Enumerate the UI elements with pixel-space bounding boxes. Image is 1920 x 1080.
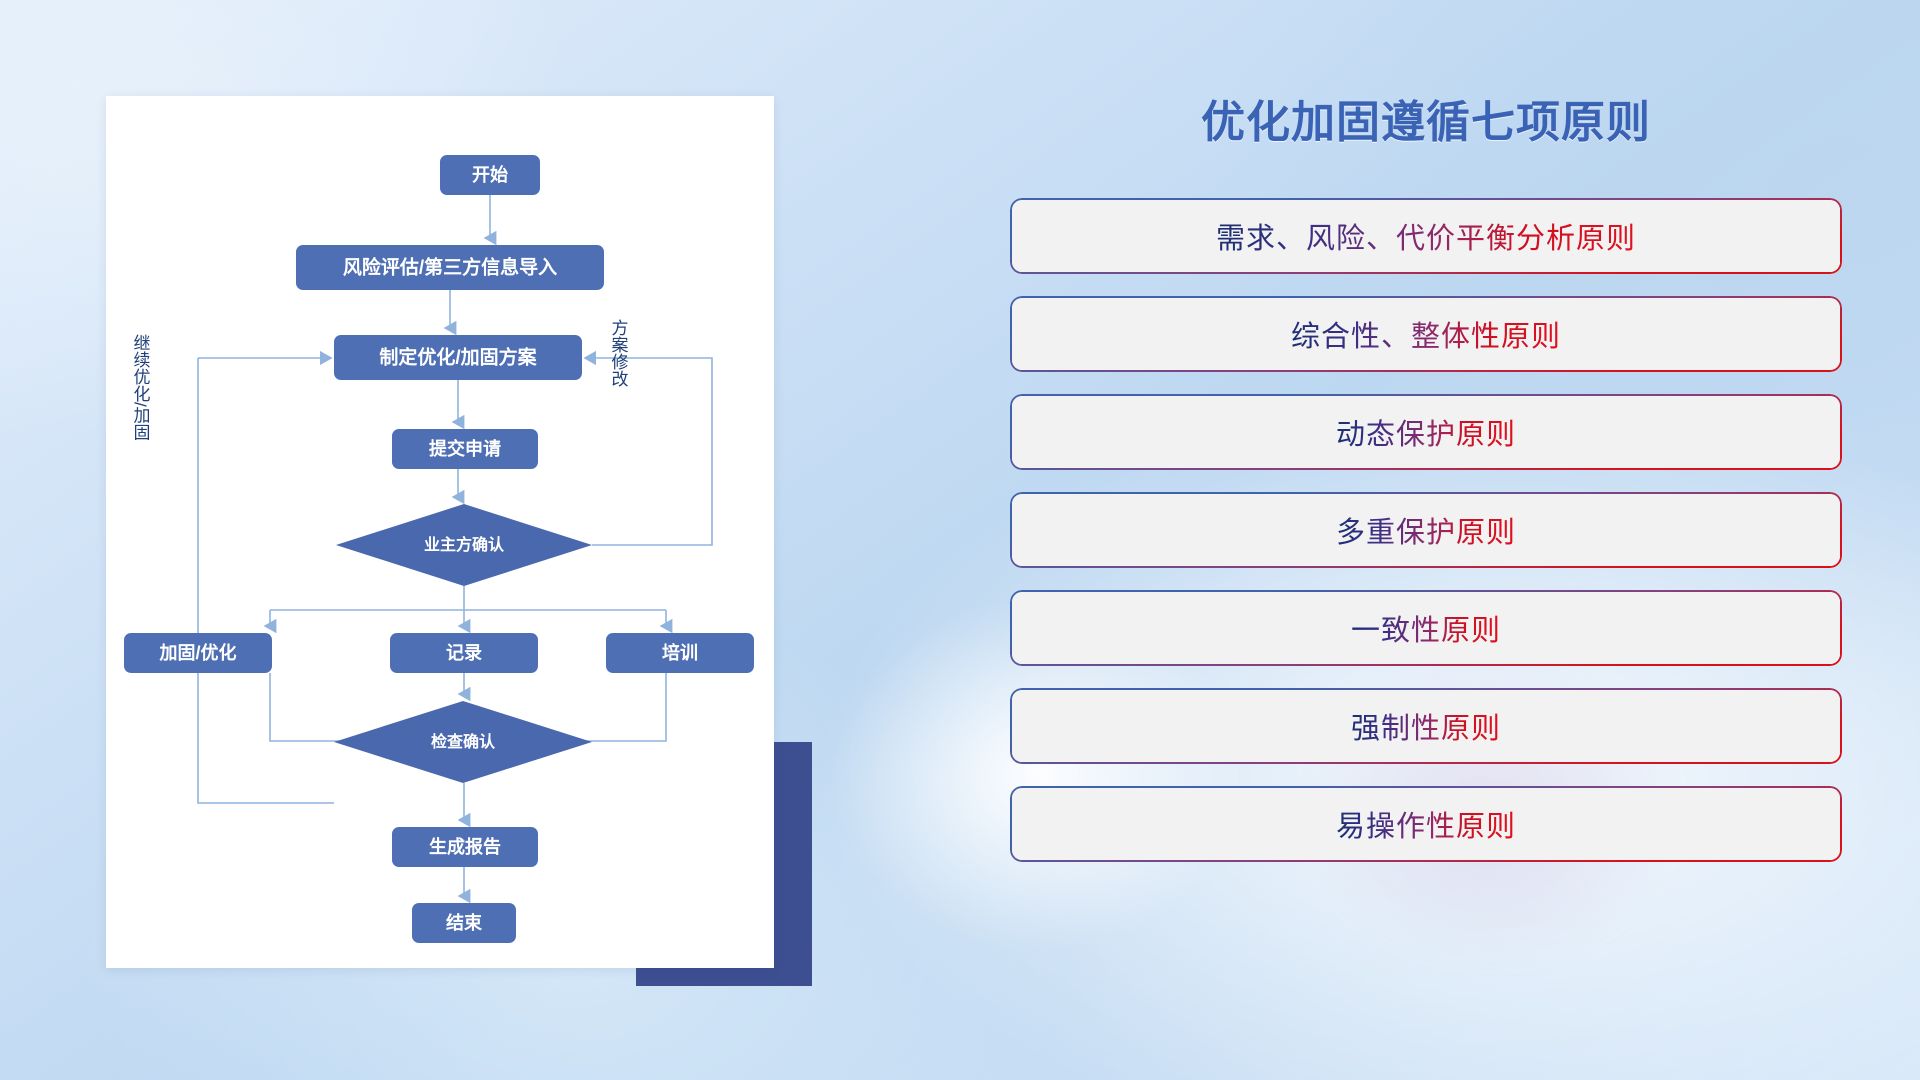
principle-card[interactable]: 一致性原则 bbox=[1010, 590, 1842, 666]
flow-node-ownerconfirm: 业主方确认 bbox=[336, 504, 592, 586]
flow-node-label: 业主方确认 bbox=[424, 535, 505, 554]
flow-node-end: 结束 bbox=[412, 903, 516, 943]
flow-node-label: 制定优化/加固方案 bbox=[379, 346, 537, 369]
flow-node-label: 生成报告 bbox=[429, 836, 501, 857]
principle-card-body: 一致性原则 bbox=[1012, 592, 1840, 664]
principle-label: 易操作性原则 bbox=[1336, 803, 1516, 845]
flow-side-label-continue-opt: 继续优化/加固 bbox=[131, 334, 151, 441]
flow-node-reinforce: 加固/优化 bbox=[124, 633, 272, 673]
flow-node-report: 生成报告 bbox=[392, 827, 538, 867]
flowchart-diagram: 开始风险评估/第三方信息导入制定优化/加固方案提交申请业主方确认加固/优化记录培… bbox=[106, 96, 774, 968]
flow-node-label: 开始 bbox=[472, 164, 508, 185]
flow-node-label: 结束 bbox=[446, 912, 483, 933]
flow-node-label: 检查确认 bbox=[431, 732, 496, 751]
flow-node-checkconfirm: 检查确认 bbox=[334, 701, 592, 783]
principle-card-body: 综合性、整体性原则 bbox=[1012, 298, 1840, 370]
principle-label: 动态保护原则 bbox=[1336, 411, 1516, 453]
principle-label: 一致性原则 bbox=[1351, 607, 1501, 649]
flow-node-label: 提交申请 bbox=[429, 438, 501, 459]
flow-side-label-plan-revise: 方案修改 bbox=[609, 319, 629, 387]
principle-label: 强制性原则 bbox=[1351, 705, 1501, 747]
principle-card[interactable]: 强制性原则 bbox=[1010, 688, 1842, 764]
principle-label: 需求、风险、代价平衡分析原则 bbox=[1216, 215, 1636, 257]
panel-title: 优化加固遵循七项原则 bbox=[1010, 86, 1842, 150]
flow-node-plan: 制定优化/加固方案 bbox=[334, 335, 582, 380]
principle-card-body: 动态保护原则 bbox=[1012, 396, 1840, 468]
flow-node-label: 培训 bbox=[662, 642, 698, 663]
flow-node-label: 记录 bbox=[446, 643, 482, 663]
flow-node-start: 开始 bbox=[440, 155, 540, 195]
principle-card-body: 易操作性原则 bbox=[1012, 788, 1840, 860]
flow-node-submit: 提交申请 bbox=[392, 429, 538, 469]
principle-card-body: 需求、风险、代价平衡分析原则 bbox=[1012, 200, 1840, 272]
flow-nodes: 开始风险评估/第三方信息导入制定优化/加固方案提交申请业主方确认加固/优化记录培… bbox=[124, 155, 754, 943]
flow-node-label: 风险评估/第三方信息导入 bbox=[343, 256, 557, 279]
principle-label: 多重保护原则 bbox=[1336, 509, 1516, 551]
principle-card-body: 多重保护原则 bbox=[1012, 494, 1840, 566]
principle-card[interactable]: 综合性、整体性原则 bbox=[1010, 296, 1842, 372]
flow-node-label: 加固/优化 bbox=[158, 642, 236, 663]
principle-card[interactable]: 多重保护原则 bbox=[1010, 492, 1842, 568]
principles-panel: 优化加固遵循七项原则 需求、风险、代价平衡分析原则综合性、整体性原则动态保护原则… bbox=[1010, 86, 1842, 1006]
flow-node-train: 培训 bbox=[606, 633, 754, 673]
principle-card[interactable]: 需求、风险、代价平衡分析原则 bbox=[1010, 198, 1842, 274]
flow-node-risk: 风险评估/第三方信息导入 bbox=[296, 245, 604, 290]
principles-list: 需求、风险、代价平衡分析原则综合性、整体性原则动态保护原则多重保护原则一致性原则… bbox=[1010, 198, 1842, 862]
principle-card[interactable]: 动态保护原则 bbox=[1010, 394, 1842, 470]
flow-node-record: 记录 bbox=[390, 633, 538, 673]
principle-label: 综合性、整体性原则 bbox=[1291, 313, 1561, 355]
principle-card[interactable]: 易操作性原则 bbox=[1010, 786, 1842, 862]
principle-card-body: 强制性原则 bbox=[1012, 690, 1840, 762]
